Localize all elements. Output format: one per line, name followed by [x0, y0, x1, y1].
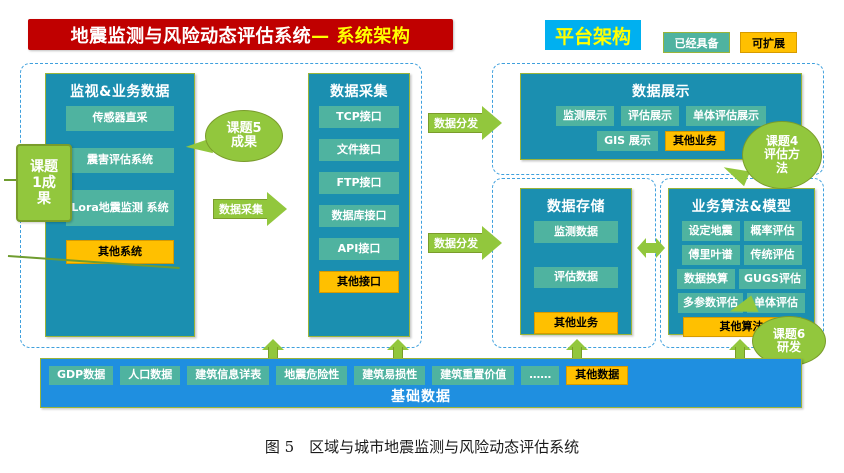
chip-gdp-data: GDP数据 [49, 366, 113, 385]
panel-store-title: 数据存储 [521, 196, 631, 216]
diagram-title: 地震监测与风险动态评估系统 — 系统架构 [28, 19, 453, 50]
algo-row-1: 设定地震 概率评估 [669, 221, 814, 241]
panel-algo-title: 业务算法&模型 [669, 196, 814, 216]
arrow-data-distribution-bottom: 数据分发 [428, 226, 502, 260]
chip-tcp-interface: TCP接口 [319, 106, 399, 128]
chip-file-interface: 文件接口 [319, 139, 399, 161]
arrow-dist-top-label: 数据分发 [428, 113, 483, 133]
arrow-storage-algorithms-bidirectional [637, 238, 665, 258]
chip-gugs-assessment: GUGS评估 [739, 269, 806, 289]
chip-database-interface: 数据库接口 [319, 205, 399, 227]
panel-data-storage: 数据存储 监测数据 评估数据 其他业务 [520, 188, 632, 335]
arrow-up-to-monitor [262, 339, 284, 359]
chip-building-info-table: 建筑信息详表 [187, 366, 269, 385]
legend-existing: 已经具备 [663, 32, 730, 53]
base-data-chip-row: GDP数据 人口数据 建筑信息详表 地震危险性 建筑易损性 建筑重置价值 …… … [49, 366, 628, 385]
arrow-data-collection: 数据采集 [213, 192, 287, 226]
arrow-data-distribution-top: 数据分发 [428, 106, 502, 140]
chip-seismic-hazard: 地震危险性 [276, 366, 347, 385]
arrow-dist-top-head [482, 106, 502, 140]
algo-row-3: 数据换算 GUGS评估 [669, 269, 814, 289]
chip-other-business-storage: 其他业务 [534, 312, 618, 334]
chip-assessment-data: 评估数据 [534, 267, 618, 289]
diagram-canvas: 地震监测与风险动态评估系统 — 系统架构 平台架构 已经具备 可扩展 监视&业务… [0, 0, 844, 473]
chip-lora-seismic-monitoring-system: Lora地震监测 系统 [66, 190, 174, 226]
chip-other-business-display: 其他业务 [665, 131, 725, 151]
chip-other-interface: 其他接口 [319, 271, 399, 293]
chip-ellipsis: …… [521, 366, 559, 385]
chip-fourier-spectrum: 傅里叶谱 [682, 245, 740, 265]
chip-other-data: 其他数据 [566, 366, 628, 385]
arrow-collect-label: 数据采集 [213, 199, 268, 219]
chip-ftp-interface: FTP接口 [319, 172, 399, 194]
callout-topic5-result: 课题5 成果 [205, 110, 283, 162]
arrow-dist-bottom-head [482, 226, 502, 260]
panel-data-collection: 数据采集 TCP接口 文件接口 FTP接口 数据库接口 API接口 其他接口 [308, 73, 410, 337]
chip-building-replacement-value: 建筑重置价值 [432, 366, 514, 385]
chip-gis-display: GIS 展示 [597, 131, 658, 151]
panel-monitor-title: 监视&业务数据 [46, 81, 194, 101]
callout-topic1-result: 课题 1成 果 [16, 144, 72, 222]
chip-damage-assessment-system: 震害评估系统 [66, 148, 174, 173]
chip-monitoring-display: 监测展示 [556, 106, 614, 126]
panel-display-title: 数据展示 [521, 81, 801, 101]
chip-assessment-display: 评估展示 [621, 106, 679, 126]
chip-scenario-earthquake: 设定地震 [682, 221, 740, 241]
display-row-1: 监测展示 评估展示 单体评估展示 [521, 106, 801, 126]
chip-sensor-direct: 传感器直采 [66, 106, 174, 131]
callout-topic4-assessment-method: 课题4 评估方 法 [742, 121, 822, 189]
arrow-dist-bottom-label: 数据分发 [428, 233, 483, 253]
chip-traditional-assessment: 传统评估 [744, 245, 802, 265]
diagram-title-accent: — 系统架构 [311, 22, 410, 48]
chip-monitoring-data: 监测数据 [534, 221, 618, 243]
chip-single-building-assessment-display: 单体评估展示 [686, 106, 766, 126]
diagram-title-main: 地震监测与风险动态评估系统 [71, 22, 312, 48]
arrow-up-to-storage [566, 339, 588, 359]
arrow-up-to-algorithms [729, 339, 751, 359]
arrow-collect-head [267, 192, 287, 226]
figure-caption: 图 5 区域与城市地震监测与风险动态评估系统 [0, 436, 844, 457]
panel-collect-title: 数据采集 [309, 81, 409, 101]
chip-probabilistic-assessment: 概率评估 [744, 221, 802, 241]
panel-base-data: GDP数据 人口数据 建筑信息详表 地震危险性 建筑易损性 建筑重置价值 …… … [40, 358, 802, 408]
base-data-title: 基础数据 [41, 386, 801, 406]
legend-extensible: 可扩展 [740, 32, 797, 53]
arrow-up-to-collect [387, 339, 409, 359]
platform-architecture-tag: 平台架构 [545, 20, 641, 50]
chip-data-conversion: 数据换算 [677, 269, 735, 289]
chip-population-data: 人口数据 [120, 366, 180, 385]
chip-building-vulnerability: 建筑易损性 [354, 366, 425, 385]
chip-api-interface: API接口 [319, 238, 399, 260]
algo-row-2: 傅里叶谱 传统评估 [669, 245, 814, 265]
